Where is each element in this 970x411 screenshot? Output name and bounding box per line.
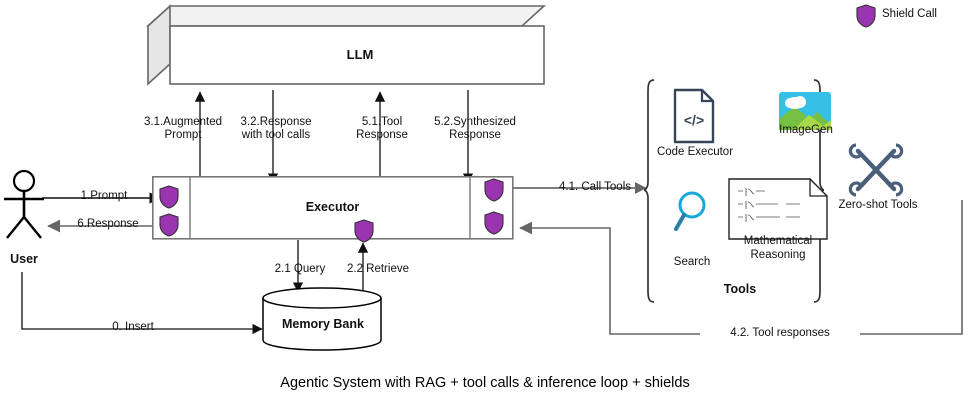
edge-label-tool-responses: 4.2. Tool responses: [700, 327, 860, 340]
edge-label-call-tools: 4.1. Call Tools: [540, 181, 650, 194]
shield-icon: [159, 213, 179, 237]
legend-shield-icon: [856, 4, 876, 28]
edge-label-response: 6.Response: [58, 218, 158, 231]
tool-label-imagegen: ImageGen: [765, 124, 847, 137]
tools-group-label: Tools: [700, 283, 780, 296]
edge-label-query: 2.1 Query: [262, 263, 338, 276]
code-document-icon[interactable]: </>: [672, 88, 716, 144]
executor-label: Executor: [200, 201, 465, 214]
tool-label-search: Search: [658, 256, 726, 269]
diagram-canvas: LLM 3.1.Augmented Prompt 3.2.Response wi…: [0, 0, 970, 411]
edge-label-augmented-prompt: 3.1.Augmented Prompt: [138, 116, 228, 142]
edge-label-retrieve: 2.2 Retrieve: [336, 263, 420, 276]
legend-label: Shield Call: [882, 8, 968, 21]
math-document-icon[interactable]: [728, 178, 828, 240]
user-label: User: [0, 253, 48, 266]
shield-icon: [484, 178, 504, 202]
edge-label-tool-response: 5.1.Tool Response: [340, 116, 424, 142]
shield-icon: [159, 185, 179, 209]
edge-label-response-tool-calls: 3.2.Response with tool calls: [228, 116, 324, 142]
edge-label-prompt: 1.Prompt: [58, 190, 150, 203]
tool-label-code-executor: Code Executor: [650, 146, 740, 159]
edge-label-synthesized-response: 5.2.Synthesized Response: [424, 116, 526, 142]
tool-label-mathematical-reasoning: Mathematical Reasoning: [718, 234, 838, 262]
magnifier-icon[interactable]: [673, 190, 711, 232]
svg-text:</>: </>: [684, 112, 704, 128]
shield-icon: [484, 211, 504, 235]
user-figure-icon[interactable]: [2, 170, 48, 240]
tool-label-zero-shot-tools: Zero-shot Tools: [838, 198, 918, 212]
crossed-wrenches-icon[interactable]: [847, 140, 905, 200]
memory-bank-label: Memory Bank: [262, 318, 384, 331]
diagram-caption: Agentic System with RAG + tool calls & i…: [0, 375, 970, 391]
edge-label-insert: 0. Insert: [78, 321, 188, 334]
shield-icon: [354, 219, 374, 243]
llm-label: LLM: [170, 48, 550, 61]
